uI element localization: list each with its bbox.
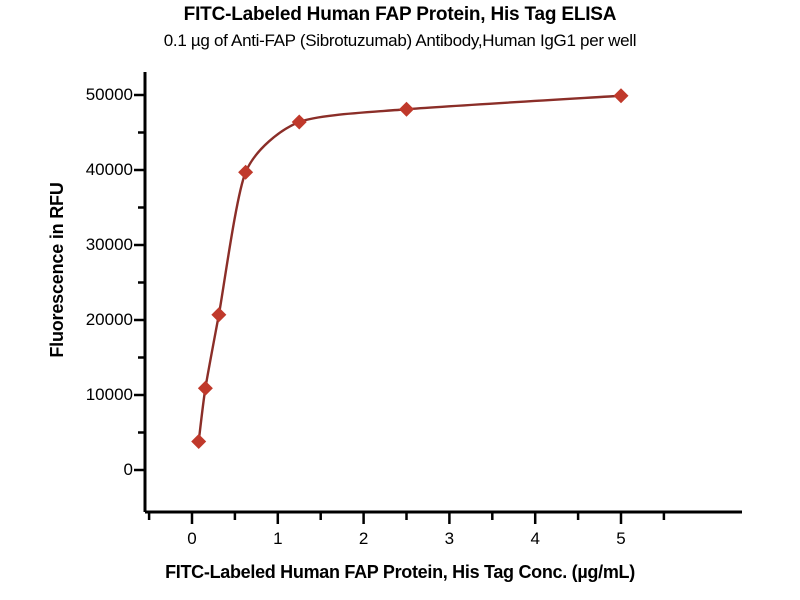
x-tick-label: 2 bbox=[359, 529, 368, 549]
data-point-marker bbox=[399, 102, 414, 117]
x-tick-label: 0 bbox=[187, 529, 196, 549]
y-tick-label: 0 bbox=[55, 460, 133, 480]
x-tick-label: 3 bbox=[445, 529, 454, 549]
axes bbox=[134, 72, 742, 524]
x-tick-label: 4 bbox=[530, 529, 539, 549]
y-tick-label: 30000 bbox=[55, 235, 133, 255]
fit-curve bbox=[199, 96, 621, 442]
data-point-marker bbox=[292, 115, 307, 130]
data-point-marker bbox=[614, 88, 629, 103]
chart-figure: FITC-Labeled Human FAP Protein, His Tag … bbox=[0, 0, 800, 600]
y-tick-label: 20000 bbox=[55, 310, 133, 330]
data-point-marker bbox=[211, 307, 226, 322]
data-point-marker bbox=[238, 165, 253, 180]
data-series bbox=[191, 88, 628, 449]
data-point-marker bbox=[191, 434, 206, 449]
data-point-marker bbox=[198, 381, 213, 396]
x-tick-label: 1 bbox=[273, 529, 282, 549]
y-tick-label: 40000 bbox=[55, 160, 133, 180]
x-tick-label: 5 bbox=[616, 529, 625, 549]
y-tick-label: 50000 bbox=[55, 85, 133, 105]
y-tick-label: 10000 bbox=[55, 385, 133, 405]
